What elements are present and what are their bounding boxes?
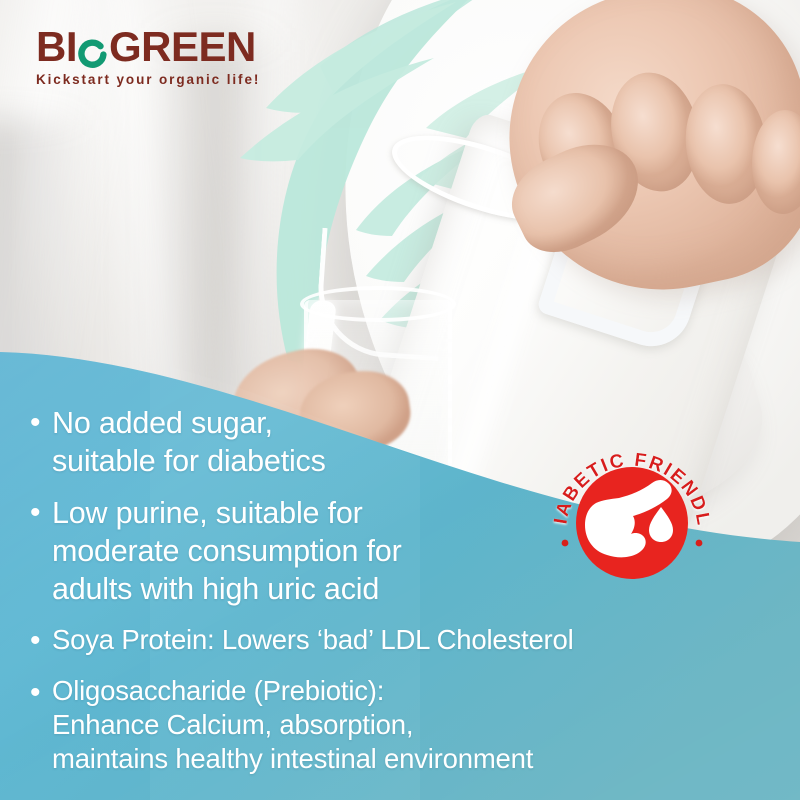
list-item: • Oligosaccharide (Prebiotic): Enhance C… [30,674,772,776]
badge-dot-left [562,540,569,547]
bullet-dot-icon: • [30,494,52,532]
diabetic-friendly-badge: DIABETIC FRIENDLY [549,437,715,603]
bullet-dot-icon: • [30,674,52,712]
badge-dot-right [696,540,703,547]
drinking-glass-rim [300,286,456,322]
list-item: • Soya Protein: Lowers ‘bad’ LDL Cholest… [30,622,772,660]
list-item-text: Low purine, suitable for moderate consum… [52,494,402,608]
bullet-dot-icon: • [30,404,52,442]
logo-text-green: GREEN [109,26,256,68]
backdrop-shadow [0,120,90,450]
list-item-text: Oligosaccharide (Prebiotic): Enhance Cal… [52,674,533,776]
advertisement-poster: BI GREEN Kickstart your organic life! • … [0,0,800,800]
brand-logo[interactable]: BI GREEN Kickstart your organic life! [36,26,336,87]
logo-text-bi: BI [36,26,77,68]
bullet-dot-icon: • [30,622,52,660]
list-item-text: Soya Protein: Lowers ‘bad’ LDL Cholester… [52,622,574,658]
logo-wordmark: BI GREEN [36,26,336,68]
green-ring-icon [78,34,108,64]
list-item-text: No added sugar, suitable for diabetics [52,404,326,480]
logo-tagline: Kickstart your organic life! [36,72,336,87]
